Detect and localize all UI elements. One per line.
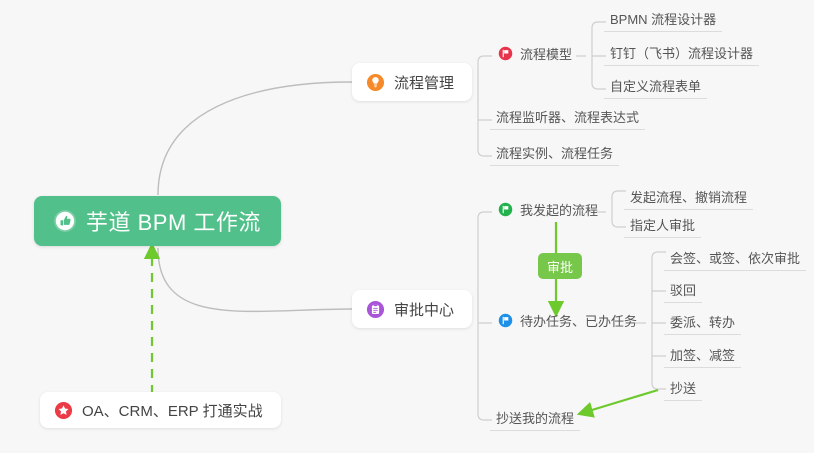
edge-pm-spine bbox=[478, 56, 492, 156]
node-label: 流程监听器、流程表达式 bbox=[496, 107, 639, 126]
node-label: 抄送 bbox=[670, 378, 696, 397]
node-assignee-approval[interactable]: 指定人审批 bbox=[624, 216, 701, 238]
node-dingtalk-feishu-designer[interactable]: 钉钉（飞书）流程设计器 bbox=[604, 44, 759, 66]
node-label: 钉钉（飞书）流程设计器 bbox=[610, 43, 753, 62]
node-listener-expression[interactable]: 流程监听器、流程表达式 bbox=[490, 108, 645, 130]
annotation-label: 审批 bbox=[547, 257, 573, 276]
root-label: 芋道 BPM 工作流 bbox=[86, 205, 261, 237]
flag-green-icon bbox=[498, 202, 513, 217]
node-label: 自定义流程表单 bbox=[610, 76, 701, 95]
branch-label: 审批中心 bbox=[394, 299, 454, 320]
lightbulb-icon bbox=[366, 73, 385, 92]
edge-root-to-approval-center bbox=[158, 248, 352, 311]
branch-label: 流程管理 bbox=[394, 72, 454, 93]
clipboard-icon bbox=[366, 300, 385, 319]
footnote-label: OA、CRM、ERP 打通实战 bbox=[82, 400, 263, 421]
node-custom-process-form[interactable]: 自定义流程表单 bbox=[604, 77, 707, 99]
node-add-remove-sign[interactable]: 加签、减签 bbox=[664, 346, 741, 368]
node-countersign[interactable]: 会签、或签、依次审批 bbox=[664, 249, 806, 271]
node-label: BPMN 流程设计器 bbox=[610, 9, 716, 28]
edge-root-to-process-management bbox=[158, 82, 352, 195]
node-cc-to-me[interactable]: 抄送我的流程 bbox=[490, 409, 580, 431]
arrow-cc-to-ccmyflow bbox=[582, 390, 658, 413]
node-delegate-transfer[interactable]: 委派、转办 bbox=[664, 313, 741, 335]
flag-blue-icon bbox=[498, 313, 513, 328]
node-label: 流程实例、流程任务 bbox=[496, 143, 613, 162]
node-bpmn-designer[interactable]: BPMN 流程设计器 bbox=[604, 10, 722, 32]
star-icon bbox=[54, 401, 73, 420]
branch-process-management[interactable]: 流程管理 bbox=[352, 63, 472, 101]
flag-red-icon bbox=[498, 46, 513, 61]
node-label: 委派、转办 bbox=[670, 312, 735, 331]
branch-approval-center[interactable]: 审批中心 bbox=[352, 290, 472, 328]
node-label: 加签、减签 bbox=[670, 345, 735, 364]
node-instance-task[interactable]: 流程实例、流程任务 bbox=[490, 144, 619, 166]
node-my-initiated[interactable]: 我发起的流程 bbox=[492, 200, 604, 222]
node-process-model[interactable]: 流程模型 bbox=[492, 44, 578, 66]
node-label: 指定人审批 bbox=[630, 215, 695, 234]
node-todo-done[interactable]: 待办任务、已办任务 bbox=[492, 311, 643, 333]
node-label: 抄送我的流程 bbox=[496, 408, 574, 427]
mindmap-canvas: 芋道 BPM 工作流 OA、CRM、ERP 打通实战 流程管理 bbox=[0, 0, 814, 453]
edge-model-spine bbox=[576, 22, 606, 89]
node-cc[interactable]: 抄送 bbox=[664, 379, 702, 401]
annotation-approval-tag[interactable]: 审批 bbox=[538, 253, 582, 279]
node-label: 驳回 bbox=[670, 280, 696, 299]
edge-ac-spine bbox=[478, 212, 492, 420]
node-start-cancel[interactable]: 发起流程、撤销流程 bbox=[624, 188, 753, 210]
node-label: 我发起的流程 bbox=[520, 200, 598, 219]
node-label: 待办任务、已办任务 bbox=[520, 311, 637, 330]
root-node[interactable]: 芋道 BPM 工作流 bbox=[34, 196, 281, 246]
node-label: 流程模型 bbox=[520, 44, 572, 63]
node-reject[interactable]: 驳回 bbox=[664, 281, 702, 303]
node-label: 发起流程、撤销流程 bbox=[630, 187, 747, 206]
thumbs-up-icon bbox=[54, 210, 76, 232]
node-label: 会签、或签、依次审批 bbox=[670, 248, 800, 267]
footnote-node[interactable]: OA、CRM、ERP 打通实战 bbox=[40, 392, 281, 428]
